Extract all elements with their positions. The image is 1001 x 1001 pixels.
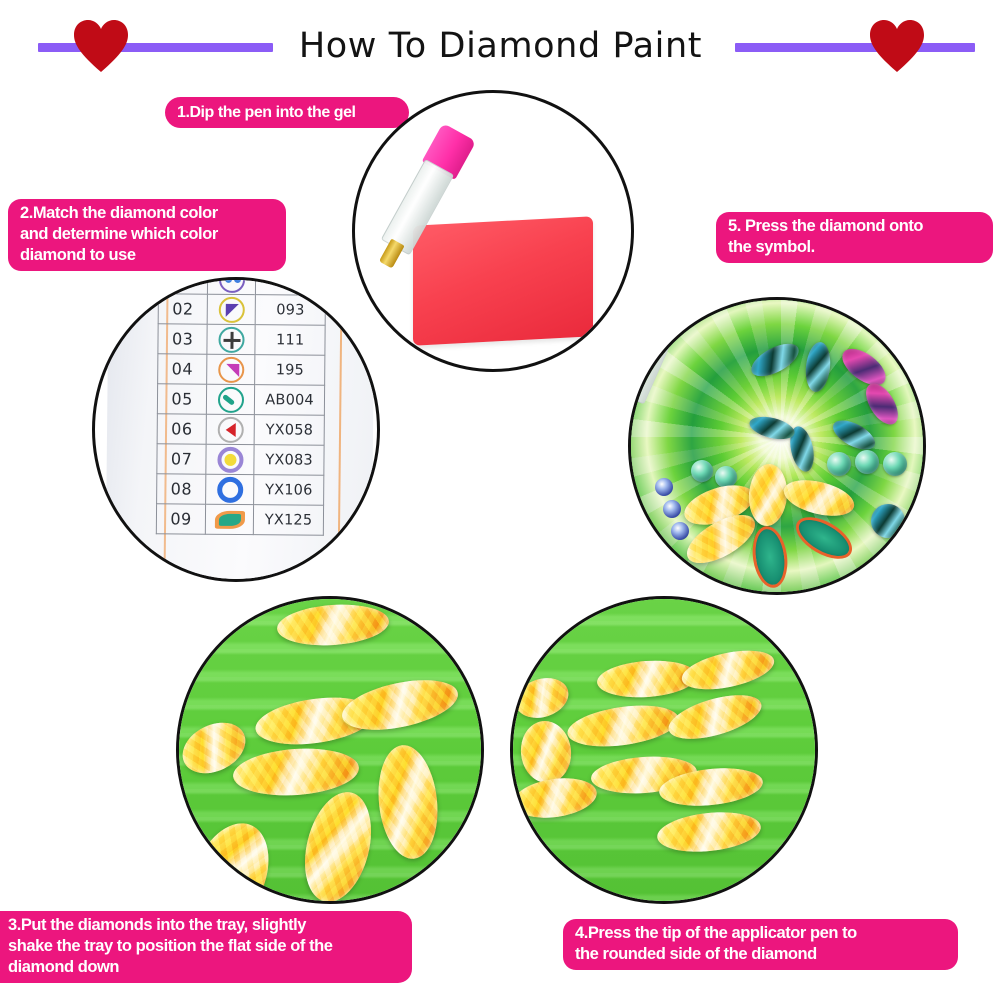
dark-round-gem [871,504,905,538]
row-number: 06 [157,414,207,444]
table-row: 08 YX106 [157,474,324,505]
row-symbol [207,384,255,414]
table-row: 05 AB004 [157,384,324,415]
row-code: YX106 [254,475,324,506]
symbol-chart-photo: 020 02 093 03 [92,277,380,582]
row-code: YX083 [254,445,324,476]
table-row: 03 111 [158,324,325,355]
row-number [158,277,208,294]
page-title: How To Diamond Paint [0,18,1001,74]
blue-printed-dot [663,500,681,518]
symbol-chart-table: 020 02 093 03 [156,277,326,536]
step-4-label: 4.Press the tip of the applicator pen to… [563,919,958,970]
pen-dipping-into-gel-photo [352,90,634,372]
row-number: 03 [158,324,208,354]
page-header: How To Diamond Paint [0,0,1001,90]
pen-picking-diamond-photo [510,596,818,904]
diamond-pressed-on-canvas-photo [628,297,926,595]
green-leaf-symbol [215,511,245,529]
row-code: YX058 [254,415,324,446]
row-code: 020 [256,277,326,295]
diamonds-in-tray-photo [176,596,484,904]
table-row: 04 195 [158,354,325,385]
row-code: 093 [255,295,325,326]
table-row: 07 YX083 [157,444,324,475]
row-number: 09 [156,504,206,534]
step-5-label: 5. Press the diamond onto the symbol. [716,212,993,263]
row-number: 08 [157,474,207,504]
photo-5-scene [631,300,923,592]
step-2-label: 2.Match the diamond color and determine … [8,199,286,271]
table-row: 020 [158,277,325,295]
blue-ring-symbol [217,476,243,502]
table-row: 06 YX058 [157,414,324,445]
row-code: 111 [255,325,325,356]
blue-printed-dot [671,522,689,540]
plus-cross-symbol [218,326,244,352]
red-left-arrow-symbol [217,416,243,442]
row-symbol [207,354,255,384]
table-row: 09 YX125 [156,504,323,535]
photo-1-scene [355,93,631,369]
paper-edge-right [337,277,343,582]
round-gem [855,450,879,474]
step-3-label: 3.Put the diamonds into the tray, slight… [0,911,412,983]
row-number: 07 [157,444,207,474]
row-number: 05 [157,384,207,414]
row-number: 04 [158,354,208,384]
row-code: YX125 [254,505,324,536]
round-gem [883,452,907,476]
blue-printed-dot [655,478,673,496]
row-symbol [207,294,255,324]
magenta-triangle-symbol [218,356,244,382]
row-symbol [207,324,255,354]
yellow-filled-circle-symbol [217,446,243,472]
row-number: 02 [158,294,208,324]
double-dot-circle-symbol [219,277,245,293]
table-row: 02 093 [158,294,325,325]
row-code: 195 [255,355,325,386]
photo-4-scene [513,599,815,901]
photo-3-scene [179,599,481,901]
row-symbol [206,474,254,504]
purple-triangle-symbol [218,296,244,322]
photo-2-scene: 020 02 093 03 [95,280,377,579]
row-symbol [206,504,254,534]
red-gel-pad [413,216,593,345]
round-gem [827,452,851,476]
row-symbol [206,414,254,444]
row-symbol [206,444,254,474]
teal-slash-symbol [218,386,244,412]
row-symbol [208,277,256,295]
row-code: AB004 [255,385,325,416]
pen-tip [379,239,405,269]
round-gem [691,460,713,482]
